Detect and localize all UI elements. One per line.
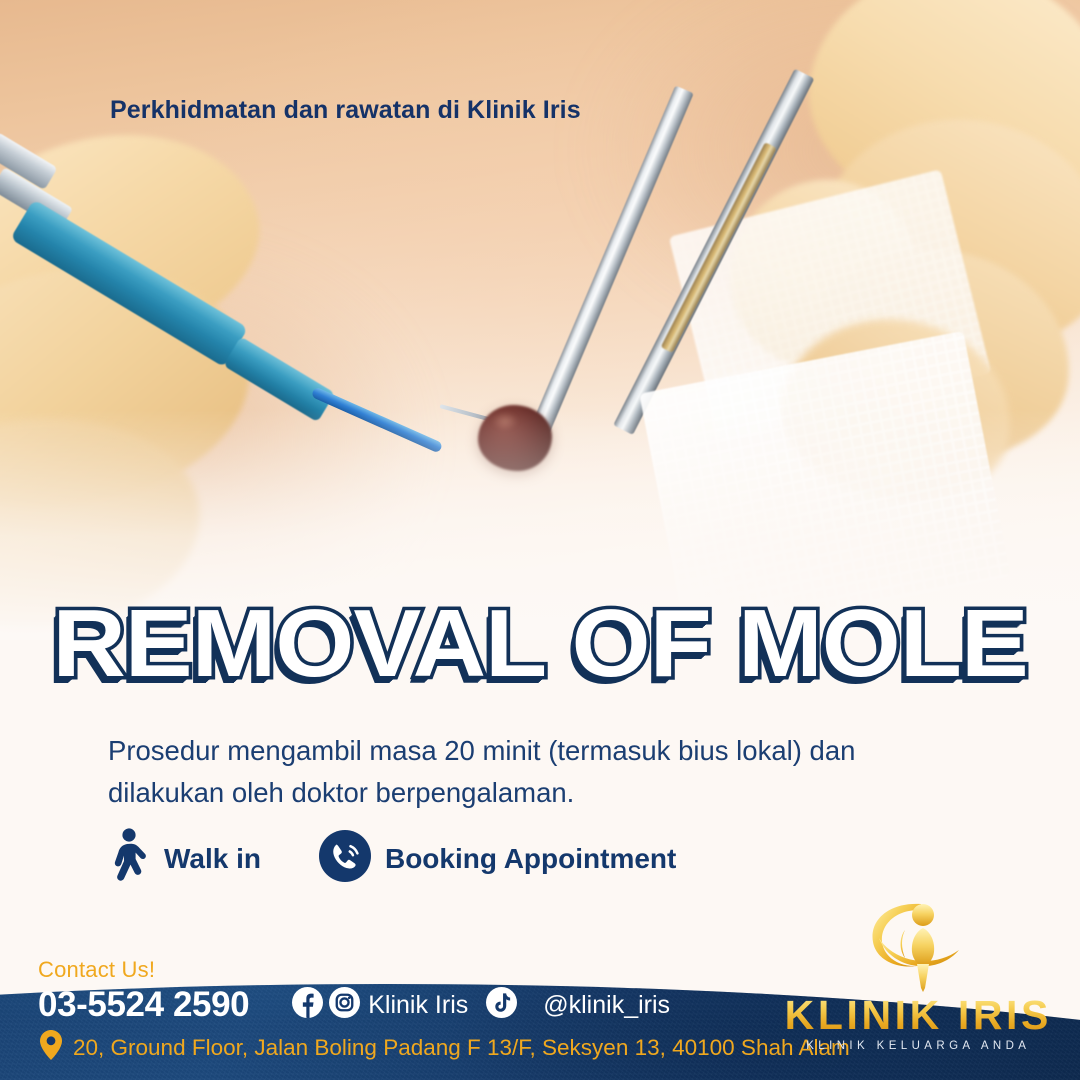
phone-call-icon bbox=[319, 830, 371, 887]
address-row: 20, Ground Floor, Jalan Boling Padang F … bbox=[38, 1029, 850, 1066]
contact-heading: Contact Us! bbox=[38, 957, 670, 983]
facebook-icon[interactable] bbox=[292, 987, 323, 1023]
cta-walk-in-label: Walk in bbox=[164, 843, 261, 875]
social-links: Klinik Iris @klinik_iris bbox=[292, 987, 670, 1023]
kicker-text: Perkhidmatan dan rawatan di Klinik Iris bbox=[110, 96, 581, 125]
logo-name: KLINIK IRIS bbox=[785, 994, 1052, 1037]
poster-canvas: Perkhidmatan dan rawatan di Klinik Iris … bbox=[0, 0, 1080, 1080]
tiktok-handle: @klinik_iris bbox=[543, 991, 670, 1020]
description-line-1: Prosedur mengambil masa 20 minit (termas… bbox=[108, 730, 974, 772]
address-text: 20, Ground Floor, Jalan Boling Padang F … bbox=[73, 1035, 850, 1061]
phone-number[interactable]: 03-5524 2590 bbox=[38, 985, 249, 1025]
map-pin-icon bbox=[38, 1029, 64, 1066]
description-line-2: dilakukan oleh doktor berpengalaman. bbox=[108, 772, 974, 814]
cta-booking-label: Booking Appointment bbox=[385, 843, 676, 875]
page-title: REMOVAL OF MOLE bbox=[0, 596, 1080, 692]
headline-container: REMOVAL OF MOLE bbox=[0, 596, 1080, 692]
contact-block: Contact Us! 03-5524 2590 bbox=[38, 957, 670, 1025]
phone-and-socials-row: 03-5524 2590 Klin bbox=[38, 985, 670, 1025]
cta-row: Walk in Booking Appointment bbox=[106, 828, 676, 889]
tiktok-icon[interactable] bbox=[486, 987, 517, 1023]
instagram-icon[interactable] bbox=[329, 987, 360, 1023]
brand-logo: KLINIK IRIS KLINIK KELUARGA ANDA bbox=[785, 898, 1052, 1052]
logo-tagline: KLINIK KELUARGA ANDA bbox=[785, 1040, 1052, 1052]
fb-ig-handle: Klinik Iris bbox=[368, 991, 468, 1020]
cta-walk-in[interactable]: Walk in bbox=[106, 828, 261, 889]
walking-person-icon bbox=[106, 828, 150, 889]
klinik-iris-figure-mark bbox=[859, 898, 977, 992]
description-text: Prosedur mengambil masa 20 minit (termas… bbox=[108, 730, 974, 814]
cta-booking-appointment[interactable]: Booking Appointment bbox=[319, 830, 676, 887]
